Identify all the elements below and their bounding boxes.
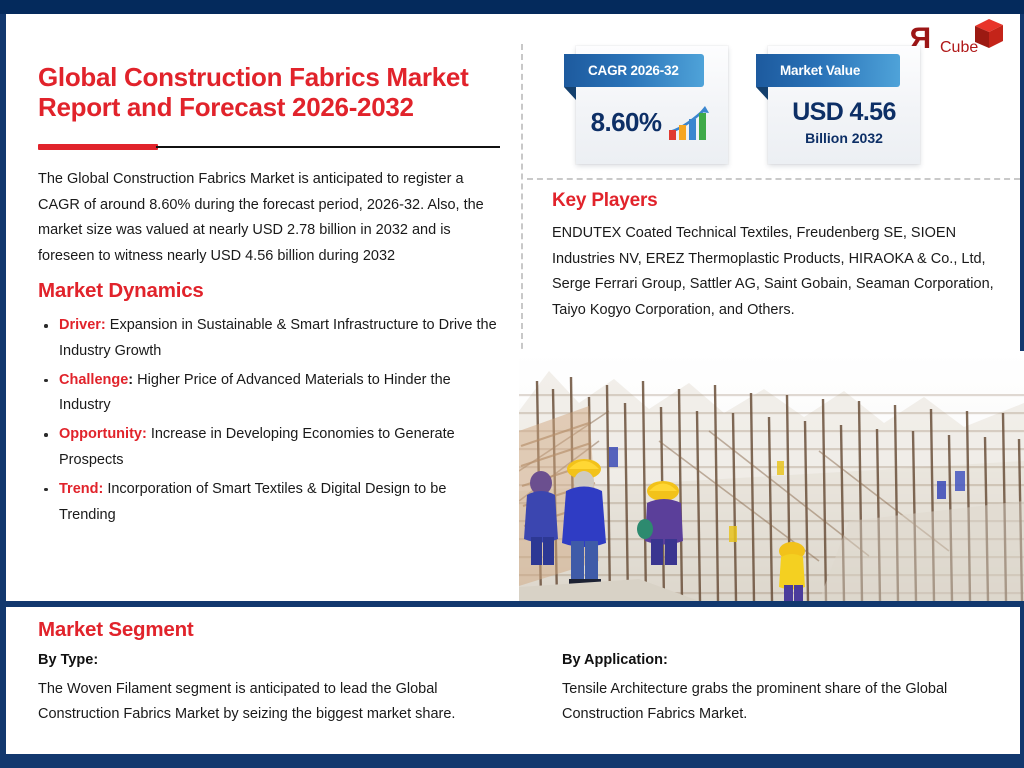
- brand-logo[interactable]: R Cube: [910, 18, 1006, 70]
- market-segment-heading: Market Segment: [38, 618, 194, 642]
- ribbon-fold-icon: [756, 87, 768, 100]
- stat-card-market-value-ribbon: Market Value: [756, 54, 900, 87]
- key-players-heading: Key Players: [552, 190, 1004, 212]
- construction-site-photo: [519, 351, 1024, 601]
- mid-section-divider: [0, 601, 1024, 607]
- stat-card-cagr-body: 8.60%: [576, 92, 728, 152]
- stat-card-market-value: Market Value USD 4.56 Billion 2032: [768, 46, 920, 164]
- bottom-border-bar: [0, 754, 1024, 768]
- page-title: Global Construction Fabrics Market Repor…: [38, 62, 506, 123]
- key-players-text: ENDUTEX Coated Technical Textiles, Freud…: [552, 221, 1004, 324]
- cube-icon: [974, 18, 1004, 50]
- by-application-text: Tensile Architecture grabs the prominent…: [562, 677, 1002, 727]
- list-item: Trend: Incorporation of Smart Textiles &…: [38, 477, 500, 529]
- segment-by-type: By Type: The Woven Filament segment is a…: [38, 652, 488, 727]
- by-type-label: By Type:: [38, 652, 488, 668]
- ribbon-fold-icon: [564, 87, 576, 100]
- market-dynamics-heading: Market Dynamics: [38, 279, 506, 303]
- segment-by-application: By Application: Tensile Architecture gra…: [562, 652, 1002, 727]
- cagr-value: 8.60%: [591, 107, 662, 138]
- left-column: Global Construction Fabrics Market Repor…: [38, 62, 506, 531]
- bar-chart-growth-icon: [667, 102, 713, 142]
- left-border-bar: [0, 14, 6, 768]
- dynamic-key: Challenge: [59, 372, 128, 388]
- list-item: Opportunity: Increase in Developing Econ…: [38, 422, 500, 474]
- dynamic-key: Trend:: [59, 481, 103, 497]
- by-application-label: By Application:: [562, 652, 1002, 668]
- title-underline: [38, 143, 500, 151]
- dynamic-key-colon: :: [128, 372, 133, 388]
- infographic-page: R Cube Global Construction Fabrics Marke…: [0, 0, 1024, 768]
- market-value-amount: USD 4.56: [792, 98, 896, 127]
- market-value-unit: Billion 2032: [805, 130, 883, 146]
- dynamic-text: Incorporation of Smart Textiles & Digita…: [59, 481, 446, 523]
- stat-card-cagr: CAGR 2026-32 8.60%: [576, 46, 728, 164]
- stat-card-cagr-ribbon: CAGR 2026-32: [564, 54, 704, 87]
- dynamic-key: Driver:: [59, 317, 106, 333]
- title-underline-red: [38, 144, 158, 150]
- intro-paragraph: The Global Construction Fabrics Market i…: [38, 167, 498, 270]
- by-type-text: The Woven Filament segment is anticipate…: [38, 677, 488, 727]
- stat-card-market-value-body: USD 4.56 Billion 2032: [768, 92, 920, 152]
- horizontal-dashed-divider: [527, 178, 1020, 180]
- dynamic-key: Opportunity:: [59, 426, 147, 442]
- key-players-section: Key Players ENDUTEX Coated Technical Tex…: [552, 190, 1004, 324]
- list-item: Challenge: Higher Price of Advanced Mate…: [38, 368, 500, 420]
- construction-site-illustration: [519, 351, 1024, 601]
- list-item: Driver: Expansion in Sustainable & Smart…: [38, 313, 500, 365]
- dynamic-text: Expansion in Sustainable & Smart Infrast…: [59, 317, 497, 359]
- title-underline-black: [156, 146, 500, 148]
- logo-wordmark: Cube: [940, 39, 978, 57]
- top-border-bar: [0, 0, 1024, 14]
- market-dynamics-list: Driver: Expansion in Sustainable & Smart…: [38, 313, 506, 528]
